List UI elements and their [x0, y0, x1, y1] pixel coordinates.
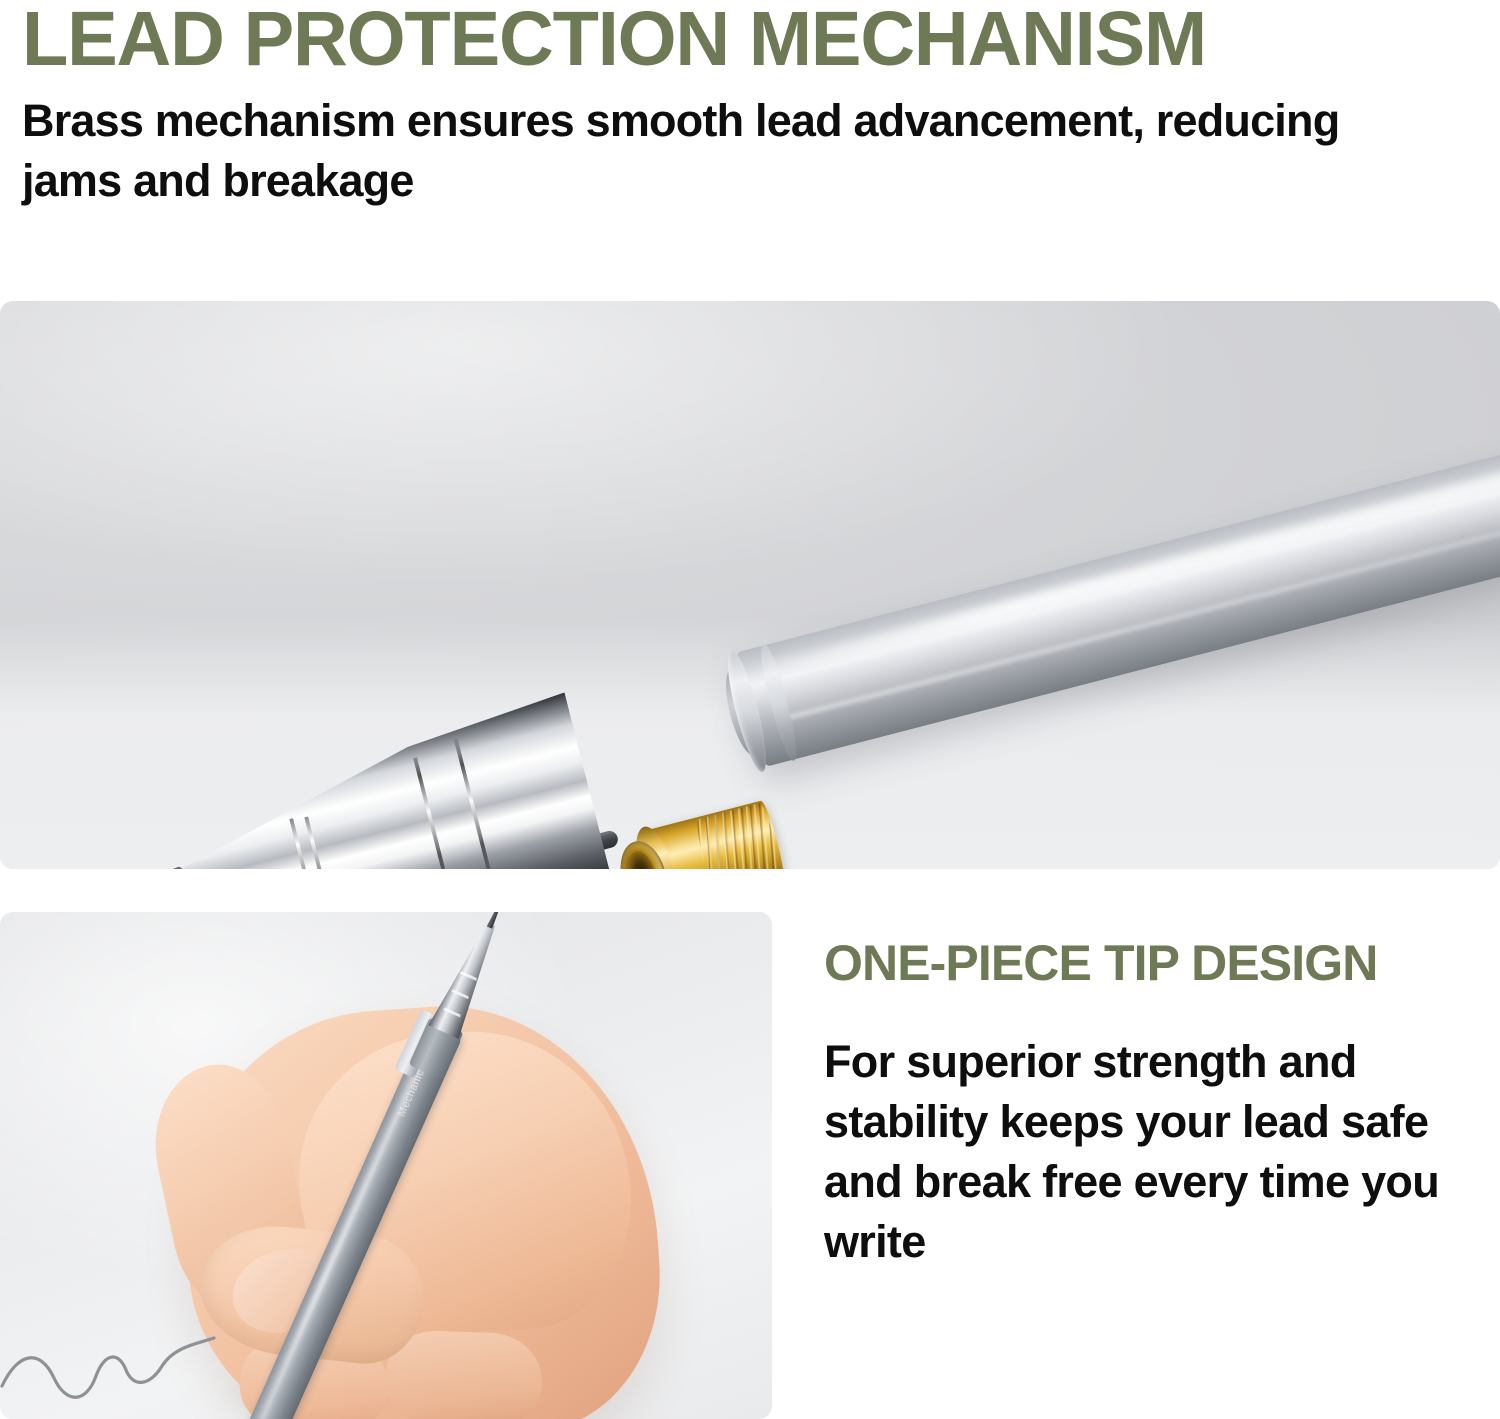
section-title-one-piece-tip: ONE-PIECE TIP DESIGN: [824, 938, 1482, 988]
brass-mechanism-photo: [0, 301, 1500, 869]
bottom-text-block: ONE-PIECE TIP DESIGN For superior streng…: [824, 938, 1482, 1271]
top-subheadline: Brass mechanism ensures smooth lead adva…: [22, 77, 1442, 210]
page-title: LEAD PROTECTION MECHANISM: [22, 0, 1456, 77]
hand-writing-photo: Mechanical: [0, 912, 772, 1419]
pencil-squiggle-mark: [0, 1304, 330, 1419]
ring-finger: [384, 1329, 543, 1419]
section-body-one-piece-tip: For superior strength and stability keep…: [824, 988, 1482, 1271]
top-text-block: LEAD PROTECTION MECHANISM Brass mechanis…: [0, 0, 1500, 210]
